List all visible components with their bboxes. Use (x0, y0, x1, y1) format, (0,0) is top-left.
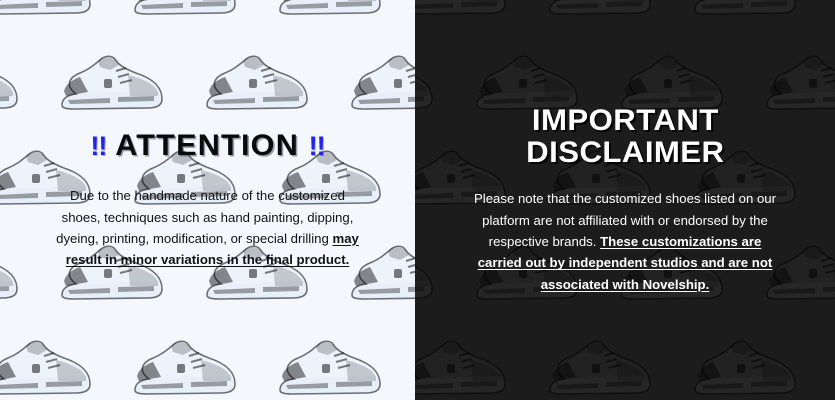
disclaimer-heading-line2: DISCLAIMER (526, 137, 724, 169)
disclaimer-heading-line1: IMPORTANT (526, 105, 724, 137)
attention-heading: !! ATTENTION !! (90, 129, 324, 163)
disclaimer-panel: IMPORTANT DISCLAIMER Please note that th… (415, 0, 835, 400)
disclaimer-content: IMPORTANT DISCLAIMER Please note that th… (415, 0, 835, 400)
exclamation-right-icon: !! (309, 131, 325, 162)
disclaimer-heading: IMPORTANT DISCLAIMER (526, 105, 724, 169)
attention-body: Due to the handmade nature of the custom… (53, 185, 363, 271)
attention-heading-text: ATTENTION (116, 129, 300, 163)
attention-body-normal: Due to the handmade nature of the custom… (56, 188, 353, 246)
attention-panel: !! ATTENTION !! Due to the handmade natu… (0, 0, 415, 400)
customization-disclaimer-banner: !! ATTENTION !! Due to the handmade natu… (0, 0, 835, 400)
disclaimer-body: Please note that the customized shoes li… (466, 188, 784, 295)
attention-content: !! ATTENTION !! Due to the handmade natu… (0, 0, 415, 400)
exclamation-left-icon: !! (90, 131, 106, 162)
